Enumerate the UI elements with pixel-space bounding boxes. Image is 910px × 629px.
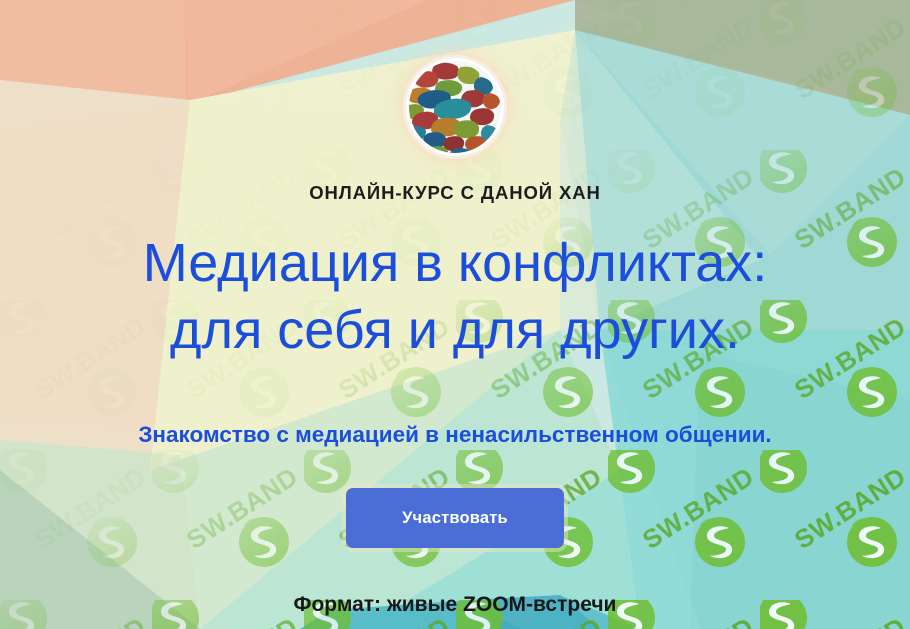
participate-button[interactable]: Участвовать	[346, 488, 564, 548]
page-title-line-1: Медиация в конфликтах:	[143, 230, 768, 297]
page-subtitle: Знакомство с медиацией в ненасильственно…	[138, 422, 771, 448]
poster-content: ОНЛАЙН-КУРС С ДАНОЙ ХАН Медиация в конфл…	[0, 0, 910, 629]
page-title-line-2: для себя и для других.	[143, 297, 768, 364]
course-eyebrow-label: ОНЛАЙН-КУРС С ДАНОЙ ХАН	[309, 182, 601, 204]
poster-canvas: SW.BAND	[0, 0, 910, 629]
page-title: Медиация в конфликтах: для себя и для др…	[143, 230, 768, 364]
format-note: Формат: живые ZOOM-встречи	[294, 593, 617, 617]
mosaic-circle-logo-icon	[401, 53, 509, 161]
